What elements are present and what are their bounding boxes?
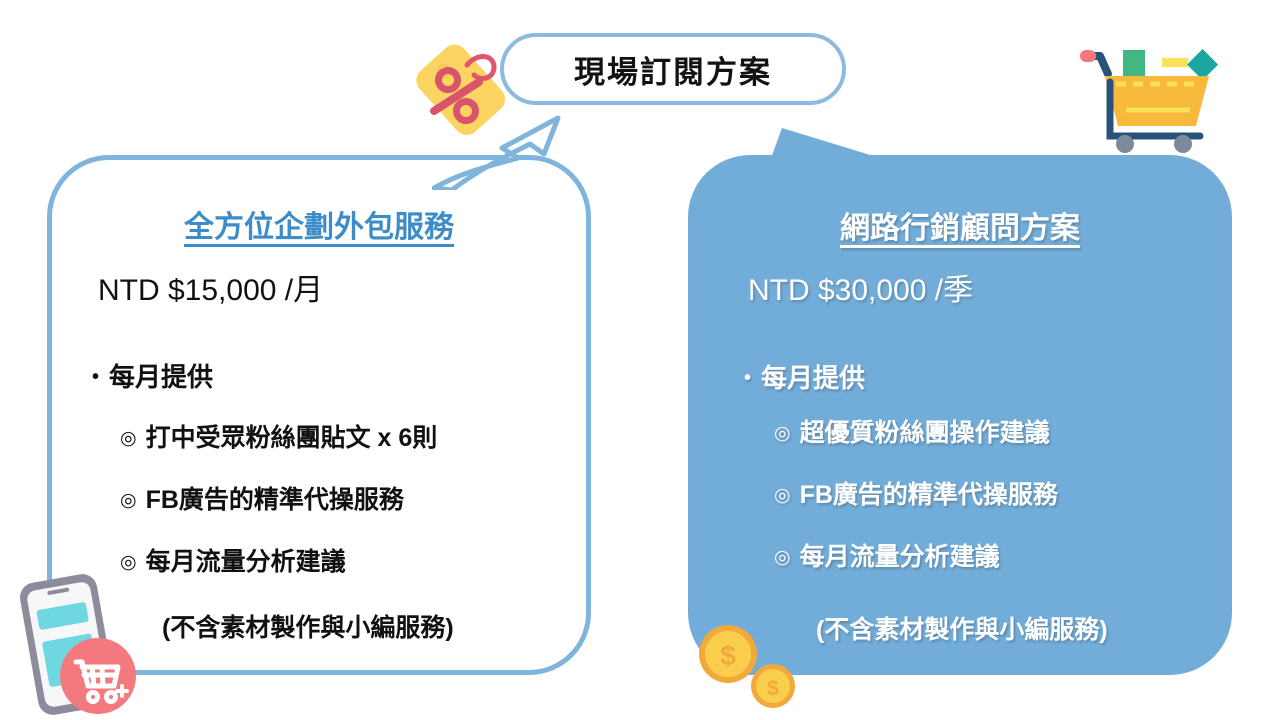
slide-canvas: 現場訂閱方案 全方位企劃外包服務 NTD $15,000 /月 •每月提供 ◎打… [0, 0, 1280, 720]
left-plan-title: 全方位企劃外包服務 [52, 202, 586, 246]
svg-text:$: $ [767, 677, 779, 700]
sub-bullet-marker-icon: ◎ [774, 547, 791, 568]
right-plan-item: ◎每月流量分析建議 [774, 537, 1000, 573]
percent-tag-icon [404, 33, 516, 145]
right-plan-note: (不含素材製作與小編服務) [816, 610, 1108, 646]
left-plan-bullet: •每月提供 [92, 357, 213, 394]
title-banner: 現場訂閱方案 [500, 33, 846, 105]
bullet-marker-icon: • [744, 367, 751, 389]
left-plan-item: ◎每月流量分析建議 [120, 542, 346, 578]
left-plan-item: ◎打中受眾粉絲團貼文 x 6則 [120, 418, 437, 454]
sub-bullet-marker-icon: ◎ [120, 428, 137, 449]
left-plan-item: ◎FB廣告的精準代操服務 [120, 480, 404, 516]
bullet-marker-icon: • [92, 366, 99, 388]
right-plan-item: ◎FB廣告的精準代操服務 [774, 475, 1058, 511]
shopping-cart-icon [1078, 38, 1218, 153]
left-plan-price: NTD $15,000 /月 [98, 265, 323, 309]
left-plan-note: (不含素材製作與小編服務) [162, 608, 454, 644]
right-plan-bullet: •每月提供 [744, 358, 865, 395]
svg-text:$: $ [720, 640, 736, 671]
sub-bullet-marker-icon: ◎ [774, 423, 791, 444]
sub-bullet-marker-icon: ◎ [774, 485, 791, 506]
sub-bullet-marker-icon: ◎ [120, 490, 137, 511]
mobile-shopping-icon [14, 560, 144, 720]
right-plan-card[interactable]: 網路行銷顧問方案 NTD $30,000 /季 •每月提供 ◎超優質粉絲團操作建… [688, 155, 1232, 675]
right-plan-item: ◎超優質粉絲團操作建議 [774, 413, 1050, 449]
right-plan-price: NTD $30,000 /季 [748, 265, 973, 309]
banner-title: 現場訂閱方案 [574, 47, 772, 92]
right-plan-title: 網路行銷顧問方案 [688, 203, 1232, 247]
gold-coins-icon: $ $ [694, 620, 804, 710]
